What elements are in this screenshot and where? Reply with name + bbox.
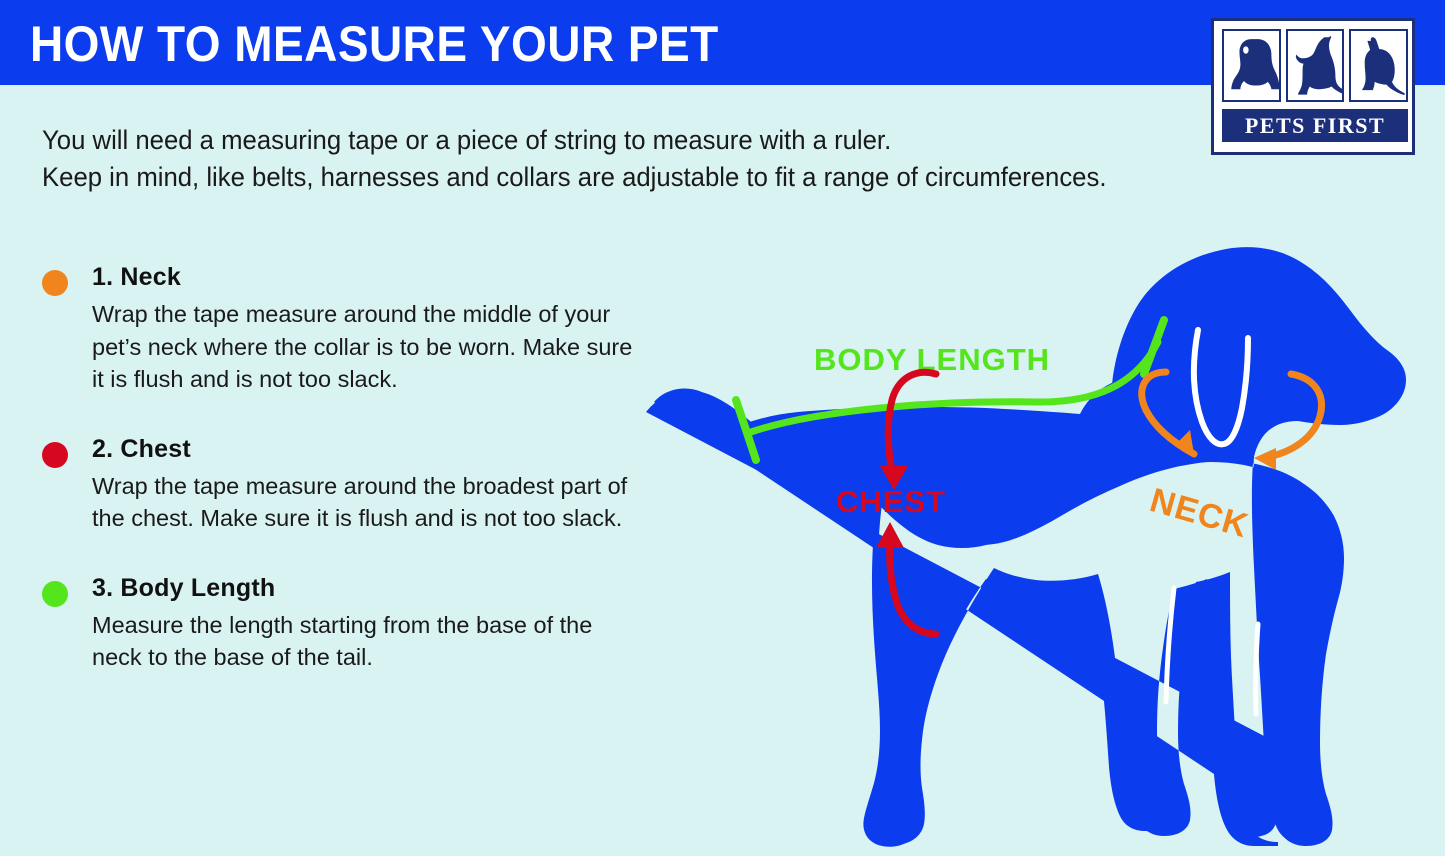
step-item-body-length: 3. Body Length Measure the length starti… — [42, 573, 642, 674]
steps-list: 1. Neck Wrap the tape measure around the… — [42, 262, 642, 708]
step-item-chest: 2. Chest Wrap the tape measure around th… — [42, 434, 642, 535]
intro-text: You will need a measuring tape or a piec… — [42, 122, 1245, 196]
intro-line-1: You will need a measuring tape or a piec… — [42, 122, 1245, 159]
intro-line-2: Keep in mind, like belts, harnesses and … — [42, 159, 1245, 196]
dog-measurement-diagram: BODY LENGTH NECK CHEST — [636, 222, 1445, 856]
dog-howling-icon — [1286, 29, 1345, 102]
page-title: HOW TO MEASURE YOUR PET — [30, 18, 719, 70]
step-body-chest: Wrap the tape measure around the broades… — [92, 470, 642, 535]
dog-rear-leg-line — [1256, 624, 1258, 714]
step-title-neck: 1. Neck — [92, 262, 642, 292]
step-title-chest: 2. Chest — [92, 434, 642, 464]
infographic-page: HOW TO MEASURE YOUR PET PETS FIRST — [0, 0, 1445, 856]
logo-wordmark-bar: PETS FIRST — [1222, 109, 1408, 142]
chest-label: CHEST — [836, 484, 946, 519]
logo-panel-row — [1222, 29, 1408, 102]
step-body-neck: Wrap the tape measure around the middle … — [92, 298, 642, 396]
dog-sitting-icon — [1222, 29, 1281, 102]
dog-sitting-side-icon — [1349, 29, 1408, 102]
bullet-body-length-icon — [42, 581, 68, 607]
bullet-chest-icon — [42, 442, 68, 468]
step-body-body-length: Measure the length starting from the bas… — [92, 609, 642, 674]
step-item-neck: 1. Neck Wrap the tape measure around the… — [42, 262, 642, 396]
bullet-neck-icon — [42, 270, 68, 296]
logo-wordmark-text: PETS FIRST — [1245, 115, 1385, 137]
step-title-body-length: 3. Body Length — [92, 573, 642, 603]
